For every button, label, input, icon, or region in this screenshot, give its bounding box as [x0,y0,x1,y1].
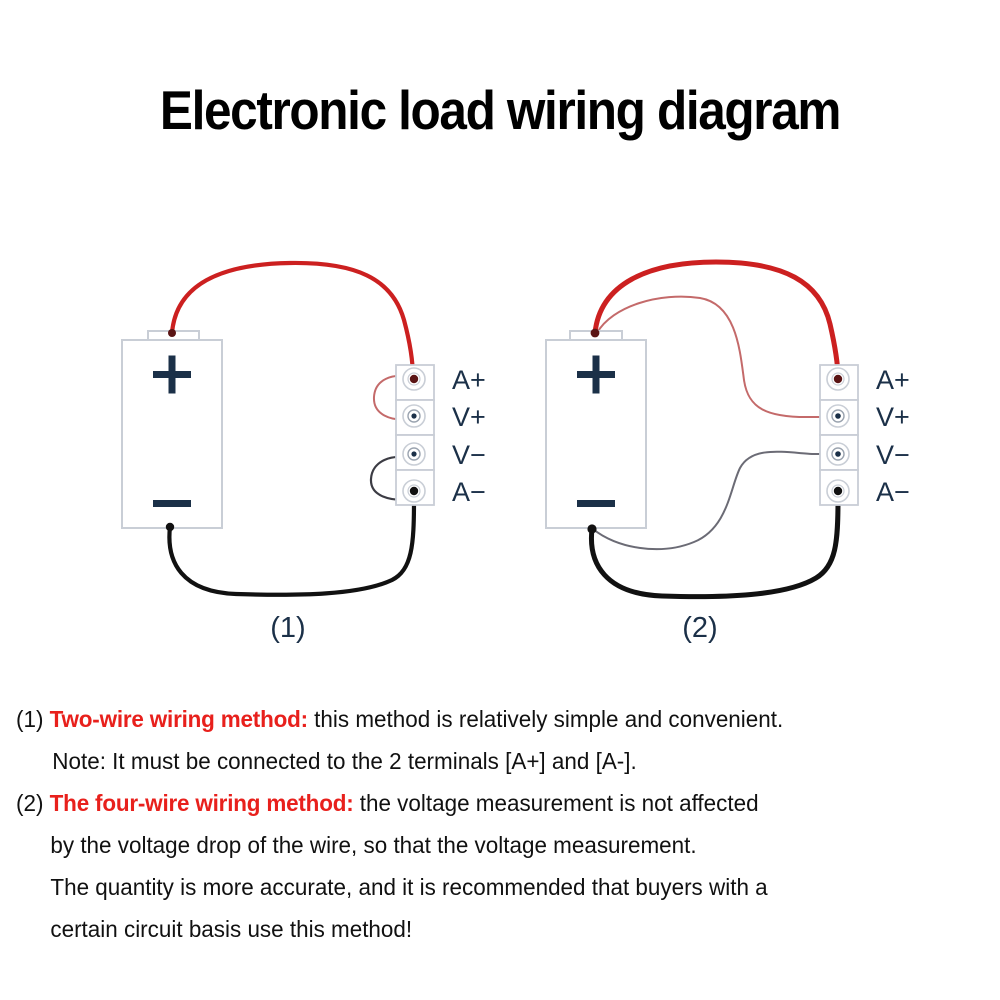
terminal-label-a-plus-4w: A+ [876,365,910,395]
note-line-4: by the voltage drop of the wire, so that… [16,824,940,866]
terminal-label-v-minus: V− [452,440,486,470]
wiring-diagram-svg: A+ V+ V− A− [0,200,1000,670]
note-line-3: (2) The four-wire wiring method: the vol… [16,782,940,824]
terminal-v-plus-4w[interactable] [827,405,849,427]
note-body-5: The quantity is more accurate, and it is… [50,874,767,900]
note-number-3: (2) [16,790,50,816]
wiring-diagram-area: A+ V+ V− A− [0,200,1000,670]
battery-plus-node-4w [591,329,600,338]
note-body-6: certain circuit basis use this method! [50,916,412,942]
terminal-a-plus[interactable] [403,368,425,390]
terminal-label-v-plus-4w: V+ [876,402,910,432]
caption-four-wire: (2) [682,612,717,644]
note-body-3: the voltage measurement is not affected [354,790,759,816]
battery-minus-symbol [153,500,191,507]
terminal-label-a-minus-4w: A− [876,477,910,507]
terminal-a-plus-4w[interactable] [827,368,849,390]
battery-minus-node [166,523,174,531]
diagram-two-wire: A+ V+ V− A− [122,263,486,644]
terminal-a-minus[interactable] [403,480,425,502]
terminal-v-minus[interactable] [403,443,425,465]
page-title: Electronic load wiring diagram [50,78,950,142]
terminal-label-v-minus-4w: V− [876,440,910,470]
caption-two-wire: (1) [270,612,305,644]
battery-minus-symbol-4w [577,500,615,507]
terminal-label-a-plus: A+ [452,365,486,395]
note-line-2: Note: It must be connected to the 2 term… [16,740,940,782]
notes-block: (1) Two-wire wiring method: this method … [16,698,984,950]
terminal-a-minus-4w[interactable] [827,480,849,502]
battery-plus-node [168,329,176,337]
note-line-6: certain circuit basis use this method! [16,908,940,950]
terminal-label-v-plus: V+ [452,402,486,432]
note-heading-1: Two-wire wiring method: [50,706,308,732]
note-body-2: Note: It must be connected to the 2 term… [52,748,636,774]
note-line-5: The quantity is more accurate, and it is… [16,866,940,908]
diagram-four-wire: A+ V+ V− A− (2) [546,262,910,644]
terminal-label-a-minus: A− [452,477,486,507]
note-body-1: this method is relatively simple and con… [308,706,783,732]
note-number-1: (1) [16,706,50,732]
terminal-v-plus[interactable] [403,405,425,427]
note-line-1: (1) Two-wire wiring method: this method … [16,698,940,740]
battery-minus-node-4w [587,524,596,533]
note-body-4: by the voltage drop of the wire, so that… [50,832,696,858]
terminal-v-minus-4w[interactable] [827,443,849,465]
note-heading-3: The four-wire wiring method: [50,790,354,816]
